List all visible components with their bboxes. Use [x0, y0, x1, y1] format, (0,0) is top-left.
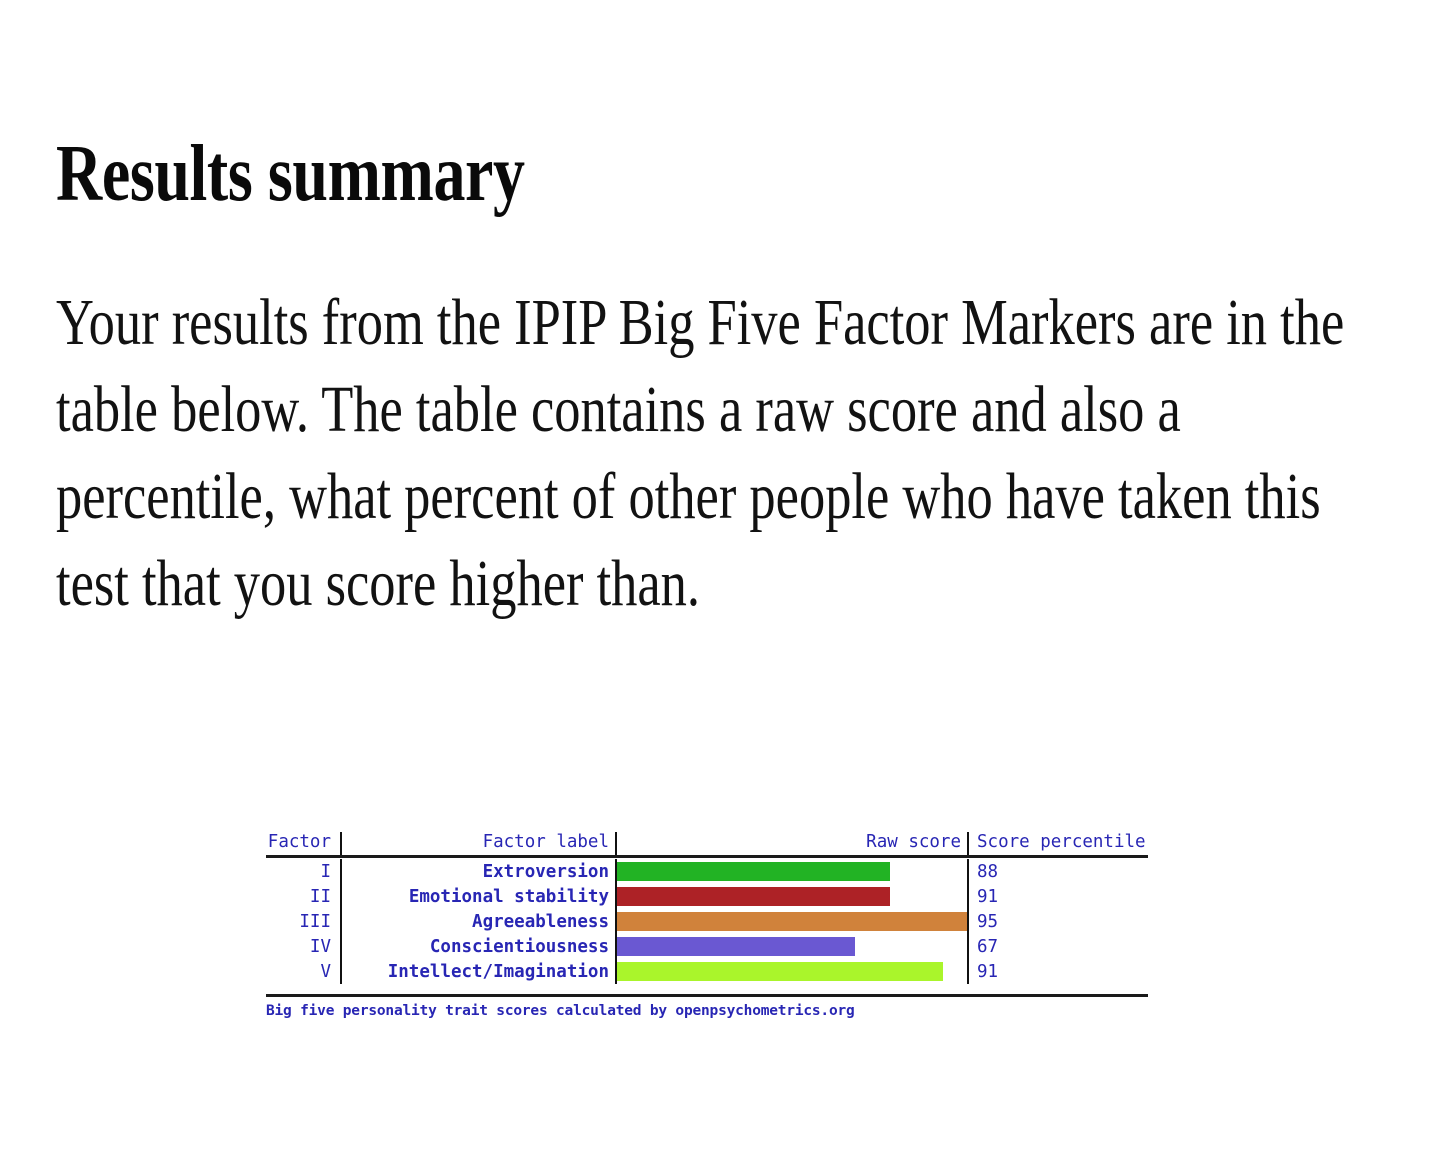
results-summary-page: Results summary Your results from the IP…: [0, 0, 1440, 1167]
column-header-factor: Factor: [266, 832, 340, 855]
table-row: III Agreeableness 95: [266, 909, 1148, 934]
cell-factor-label: Intellect/Imagination: [340, 959, 615, 984]
table-bottom-divider: [266, 994, 1148, 997]
cell-score-percentile: 67: [967, 934, 1148, 959]
cell-factor: II: [266, 884, 340, 909]
column-header-score-percentile: Score percentile: [967, 832, 1148, 855]
raw-score-bar: [617, 962, 943, 981]
cell-score-percentile: 91: [967, 959, 1148, 984]
cell-factor-label: Agreeableness: [340, 909, 615, 934]
cell-score-percentile: 91: [967, 884, 1148, 909]
cell-raw-score: [615, 884, 967, 909]
intro-paragraph: Your results from the IPIP Big Five Fact…: [56, 279, 1376, 627]
cell-raw-score: [615, 934, 967, 959]
cell-factor-label: Extroversion: [340, 859, 615, 884]
column-header-factor-label: Factor label: [340, 832, 615, 855]
page-title: Results summary: [56, 132, 525, 216]
results-table: Factor Factor label Raw score Score perc…: [266, 828, 1148, 1019]
raw-score-bar: [617, 937, 855, 956]
results-chart-block: Factor Factor label Raw score Score perc…: [266, 828, 1148, 1019]
raw-score-bar: [617, 887, 890, 906]
cell-factor: III: [266, 909, 340, 934]
table-body: I Extroversion 88 II Emotional stability…: [266, 858, 1148, 994]
cell-score-percentile: 95: [967, 909, 1148, 934]
cell-score-percentile: 88: [967, 859, 1148, 884]
cell-raw-score: [615, 909, 967, 934]
table-row: II Emotional stability 91: [266, 884, 1148, 909]
cell-factor: IV: [266, 934, 340, 959]
table-row: IV Conscientiousness 67: [266, 934, 1148, 959]
raw-score-bar: [617, 912, 967, 931]
cell-raw-score: [615, 859, 967, 884]
cell-raw-score: [615, 959, 967, 984]
table-row: V Intellect/Imagination 91: [266, 959, 1148, 984]
cell-factor: V: [266, 959, 340, 984]
table-header-row: Factor Factor label Raw score Score perc…: [266, 828, 1148, 855]
cell-factor-label: Conscientiousness: [340, 934, 615, 959]
cell-factor: I: [266, 859, 340, 884]
column-header-raw-score: Raw score: [615, 832, 967, 855]
chart-footnote: Big five personality trait scores calcul…: [266, 1003, 1148, 1019]
cell-factor-label: Emotional stability: [340, 884, 615, 909]
table-row: I Extroversion 88: [266, 859, 1148, 884]
raw-score-bar: [617, 862, 890, 881]
